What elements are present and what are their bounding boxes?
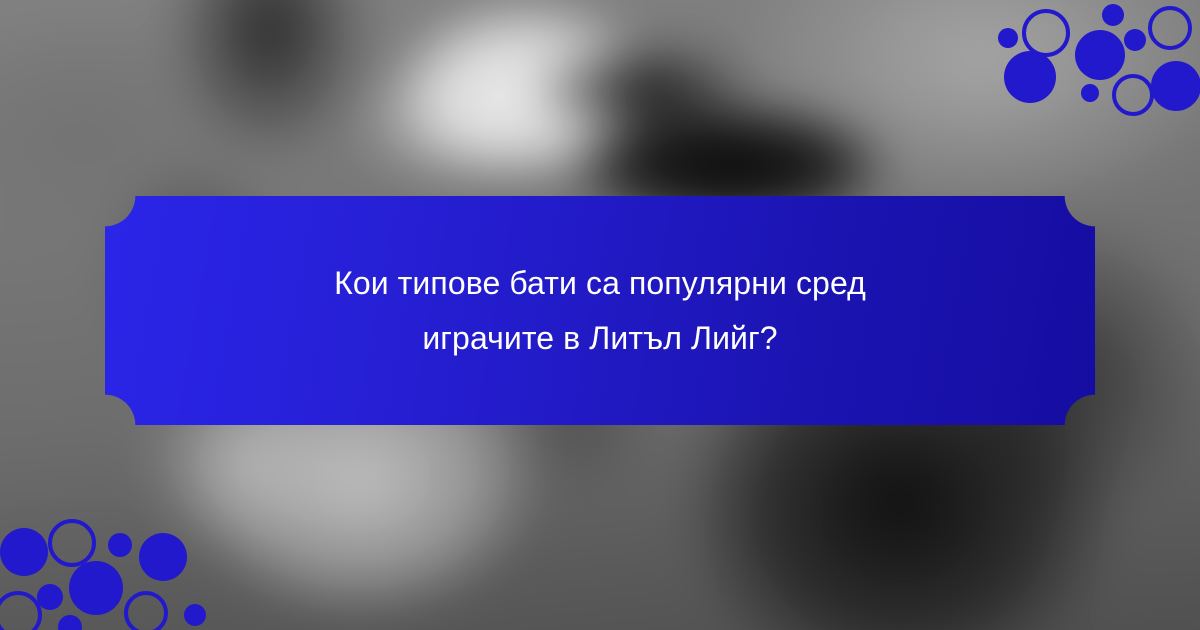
decorative-circle-fill	[1081, 84, 1099, 102]
decorative-circle-fill	[1004, 51, 1056, 103]
decorative-circle-fill	[139, 533, 187, 581]
social-card-canvas: Кои типове бати са популярни сред играчи…	[0, 0, 1200, 630]
circle-cluster-bottom-left	[0, 515, 210, 630]
decorative-circle-ring	[1112, 74, 1154, 116]
decorative-circle-ring	[124, 591, 168, 630]
decorative-circle-ring	[48, 519, 96, 567]
question-banner: Кои типове бати са популярни сред играчи…	[105, 196, 1095, 425]
decorative-circle-ring	[0, 591, 42, 630]
decorative-circle-ring	[1022, 9, 1070, 57]
decorative-circle-fill	[37, 584, 63, 610]
decorative-circle-fill	[184, 604, 206, 626]
decorative-circle-fill	[108, 533, 132, 557]
circle-cluster-top-right	[990, 0, 1200, 115]
decorative-circle-fill	[1075, 30, 1125, 80]
decorative-circle-fill	[0, 528, 48, 576]
question-title: Кои типове бати са популярни сред играчи…	[165, 255, 1035, 365]
decorative-circle-fill	[998, 28, 1018, 48]
decorative-circle-fill	[69, 561, 123, 615]
decorative-circle-fill	[58, 615, 82, 630]
decorative-circle-fill	[1102, 4, 1124, 26]
decorative-circle-fill	[1124, 29, 1146, 51]
decorative-circle-ring	[1148, 6, 1192, 50]
decorative-circle-fill	[1151, 61, 1200, 111]
